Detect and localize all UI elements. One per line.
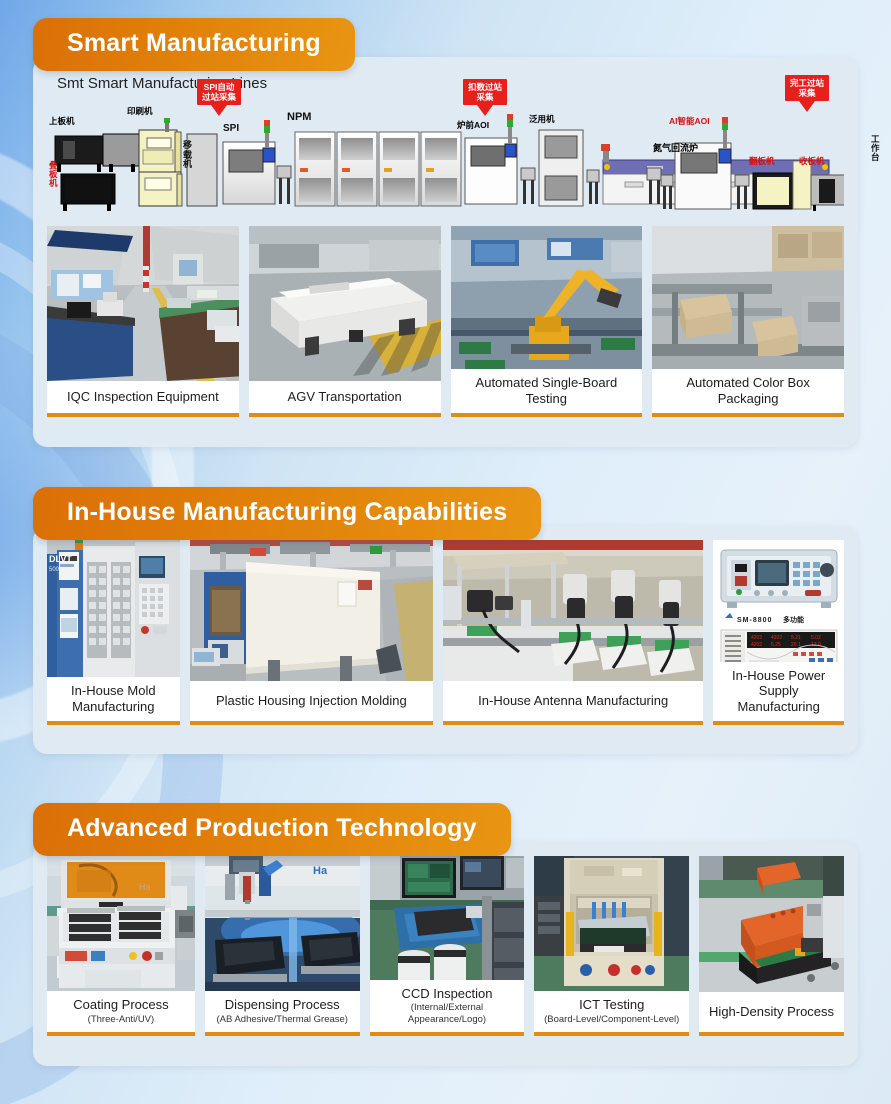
caption-plastic-injection-molding: Plastic Housing Injection Molding bbox=[190, 681, 433, 721]
caption-high-density-process: High-Density Process bbox=[699, 992, 844, 1032]
photo-cnc-machine: DLVT 500 bbox=[47, 540, 180, 677]
photo-robot-arm bbox=[451, 226, 643, 369]
caption-title: Plastic Housing Injection Molding bbox=[216, 693, 407, 708]
svg-text:Ha: Ha bbox=[139, 882, 151, 892]
section-body: Ha bbox=[33, 842, 858, 1066]
caption-agv-transportation: AGV Transportation bbox=[249, 381, 441, 413]
caption-in-house-antenna: In-House Antenna Manufacturing bbox=[443, 681, 703, 721]
svg-text:4202: 4202 bbox=[771, 635, 782, 641]
card-dispensing-process[interactable]: Ha Dispensing Proc bbox=[205, 856, 360, 1036]
caption-title: AGV Transportation bbox=[288, 389, 402, 404]
card-row-advanced-production: Ha bbox=[47, 856, 844, 1036]
svg-text:4202: 4202 bbox=[751, 642, 762, 648]
caption-in-house-mold: In-House Mold Manufacturing bbox=[47, 677, 180, 721]
card-row-smart-manufacturing: IQC Inspection Equipment bbox=[47, 226, 844, 417]
card-automated-board-testing[interactable]: Automated Single-Board Testing bbox=[451, 226, 643, 417]
section-body: Smt Smart Manufacturing Lines bbox=[33, 57, 858, 447]
caption-title: High-Density Process bbox=[709, 1004, 834, 1019]
caption-title-line1: In-House Power bbox=[732, 668, 825, 683]
caption-title: Dispensing Process bbox=[225, 997, 340, 1012]
photo-ccd-inspection bbox=[370, 856, 525, 980]
card-plastic-injection-molding[interactable]: Plastic Housing Injection Molding bbox=[190, 540, 433, 725]
section-title: Smart Manufacturing bbox=[67, 31, 321, 56]
section-advanced-production: Advanced Production Technology bbox=[33, 803, 858, 1066]
section-tab-advanced-production: Advanced Production Technology bbox=[33, 803, 511, 856]
caption-ict-testing: ICT Testing (Board-Level/Component-Level… bbox=[534, 991, 689, 1032]
card-in-house-mold[interactable]: DLVT 500 In-House Mold Manufacturing bbox=[47, 540, 180, 725]
section-smart-manufacturing: Smart Manufacturing Smt Smart Manufactur… bbox=[33, 18, 858, 447]
caption-iqc-inspection: IQC Inspection Equipment bbox=[47, 381, 239, 413]
smt-label-workbench: 工作台 bbox=[871, 135, 882, 163]
section-tab-in-house-capabilities: In-House Manufacturing Capabilities bbox=[33, 487, 541, 540]
caption-subtitle: (Internal/External Appearance/Logo) bbox=[374, 1002, 521, 1025]
caption-title: Automated Color Box Packaging bbox=[656, 375, 840, 406]
card-coating-process[interactable]: Ha bbox=[47, 856, 195, 1036]
svg-text:5.21: 5.21 bbox=[791, 635, 801, 641]
card-row-in-house: DLVT 500 In-House Mold Manufacturing bbox=[47, 540, 844, 725]
diagram-title: Smt Smart Manufacturing Lines bbox=[47, 71, 844, 98]
caption-title: ICT Testing bbox=[579, 997, 644, 1012]
photo-packaging-line bbox=[652, 226, 844, 369]
photo-power-supply-tester: SM-8800 多功能 bbox=[713, 540, 844, 662]
svg-text:SM-8800: SM-8800 bbox=[737, 617, 772, 624]
card-high-density-process[interactable]: High-Density Process bbox=[699, 856, 844, 1036]
caption-ccd-inspection: CCD Inspection (Internal/External Appear… bbox=[370, 980, 525, 1032]
caption-title-line2: Manufacturing bbox=[72, 699, 154, 714]
photo-agv-cart bbox=[249, 226, 441, 381]
svg-text:多功能: 多功能 bbox=[783, 615, 804, 624]
smt-line-diagram bbox=[47, 98, 844, 216]
page-root: Smart Manufacturing Smt Smart Manufactur… bbox=[0, 0, 891, 1104]
section-in-house-capabilities: In-House Manufacturing Capabilities bbox=[33, 487, 858, 754]
caption-title: Automated Single-Board Testing bbox=[455, 375, 639, 406]
caption-title: In-House Antenna Manufacturing bbox=[478, 693, 668, 708]
svg-text:5.02: 5.02 bbox=[811, 635, 821, 641]
caption-title-line1: In-House Mold bbox=[71, 683, 156, 698]
caption-title: CCD Inspection bbox=[401, 986, 492, 1001]
caption-color-box-packaging: Automated Color Box Packaging bbox=[652, 369, 844, 413]
caption-dispensing-process: Dispensing Process (AB Adhesive/Thermal … bbox=[205, 991, 360, 1032]
photo-dispensing-machine: Ha bbox=[205, 856, 360, 991]
caption-subtitle: (Board-Level/Component-Level) bbox=[544, 1014, 679, 1025]
svg-text:4202: 4202 bbox=[751, 635, 762, 641]
section-title: In-House Manufacturing Capabilities bbox=[67, 500, 507, 525]
card-color-box-packaging[interactable]: Automated Color Box Packaging bbox=[652, 226, 844, 417]
svg-text:20.1: 20.1 bbox=[791, 642, 801, 648]
caption-coating-process: Coating Process (Three-Anti/UV) bbox=[47, 991, 195, 1032]
caption-in-house-power-supply: In-House Power Supply Manufacturing bbox=[713, 662, 844, 721]
card-ccd-inspection[interactable]: CCD Inspection (Internal/External Appear… bbox=[370, 856, 525, 1036]
card-agv-transportation[interactable]: AGV Transportation bbox=[249, 226, 441, 417]
card-ict-testing[interactable]: ICT Testing (Board-Level/Component-Level… bbox=[534, 856, 689, 1036]
section-body: DLVT 500 In-House Mold Manufacturing bbox=[33, 526, 858, 754]
caption-title: Coating Process bbox=[73, 997, 168, 1012]
section-title: Advanced Production Technology bbox=[67, 816, 477, 841]
caption-title: IQC Inspection Equipment bbox=[67, 389, 219, 404]
svg-text:5.25: 5.25 bbox=[771, 642, 781, 648]
caption-title-line2: Supply Manufacturing bbox=[717, 683, 840, 714]
svg-text:DLVT: DLVT bbox=[49, 554, 72, 564]
card-in-house-power-supply[interactable]: SM-8800 多功能 bbox=[713, 540, 844, 725]
card-in-house-antenna[interactable]: In-House Antenna Manufacturing bbox=[443, 540, 703, 725]
section-tab-smart-manufacturing: Smart Manufacturing bbox=[33, 18, 355, 71]
caption-automated-board-testing: Automated Single-Board Testing bbox=[451, 369, 643, 413]
photo-high-density-fixture bbox=[699, 856, 844, 992]
photo-injection-molding bbox=[190, 540, 433, 681]
photo-coating-machine: Ha bbox=[47, 856, 195, 991]
photo-antenna-line bbox=[443, 540, 703, 681]
caption-subtitle: (Three-Anti/UV) bbox=[88, 1014, 155, 1025]
photo-iqc-lab bbox=[47, 226, 239, 381]
caption-subtitle: (AB Adhesive/Thermal Grease) bbox=[217, 1014, 348, 1025]
svg-text:500: 500 bbox=[49, 567, 60, 573]
card-iqc-inspection[interactable]: IQC Inspection Equipment bbox=[47, 226, 239, 417]
svg-text:Ha: Ha bbox=[313, 865, 328, 877]
photo-ict-fixture bbox=[534, 856, 689, 991]
